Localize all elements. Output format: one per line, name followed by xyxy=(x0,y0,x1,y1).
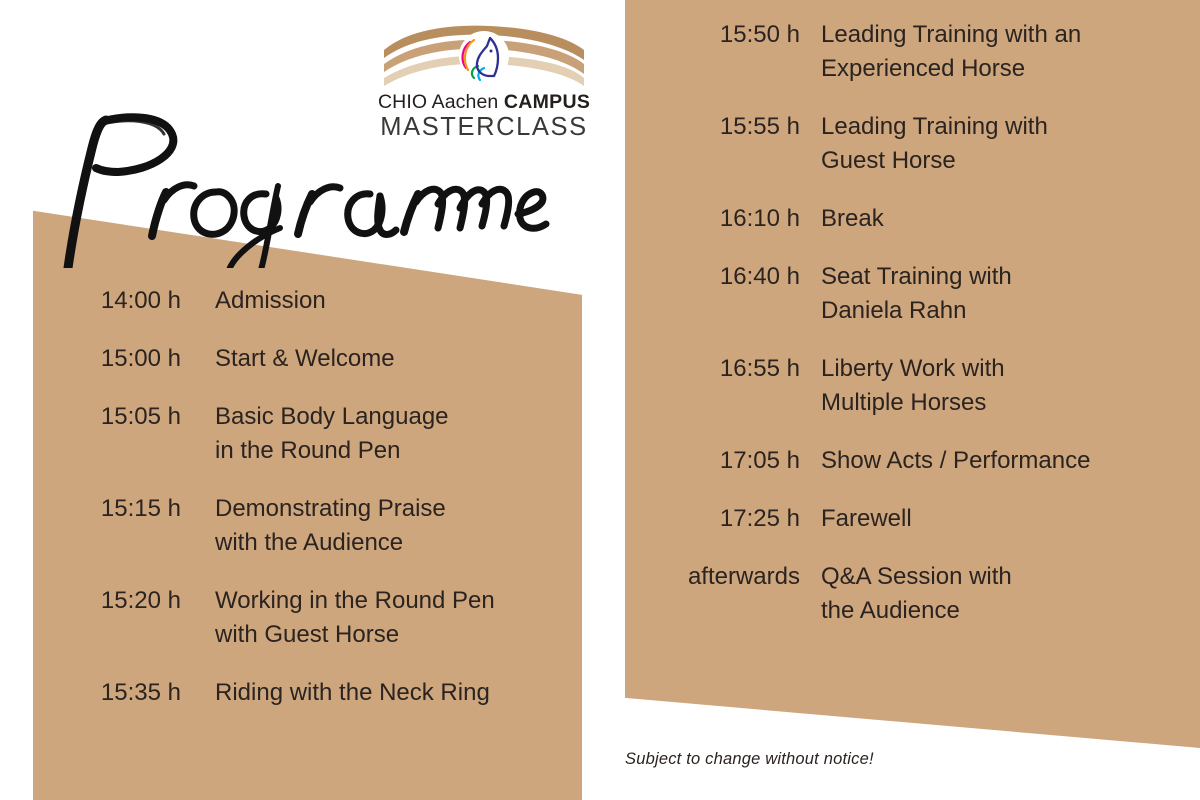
programme-poster: CHIO Aachen CAMPUS MASTERCLASS xyxy=(0,0,1200,800)
schedule-time: 15:55 h xyxy=(625,110,800,144)
schedule-description: Basic Body Language in the Round Pen xyxy=(215,400,449,468)
schedule-row: 15:15 h Demonstrating Praise with the Au… xyxy=(33,492,582,560)
schedule-row: 15:20 h Working in the Round Pen with Gu… xyxy=(33,584,582,652)
schedule-description: Working in the Round Pen with Guest Hors… xyxy=(215,584,495,652)
schedule-description: Leading Training with an Experienced Hor… xyxy=(821,18,1081,86)
schedule-row: 15:55 h Leading Training with Guest Hors… xyxy=(625,110,1200,178)
schedule-time: 15:50 h xyxy=(625,18,800,52)
schedule-description: Q&A Session with the Audience xyxy=(821,560,1012,628)
schedule-time: 17:05 h xyxy=(625,444,800,478)
schedule-time: 15:35 h xyxy=(33,676,181,710)
schedule-row: afterwards Q&A Session with the Audience xyxy=(625,560,1200,628)
schedule-time: afterwards xyxy=(625,560,800,594)
schedule-row: 16:10 h Break xyxy=(625,202,1200,236)
schedule-description: Break xyxy=(821,202,884,236)
schedule-time: 14:00 h xyxy=(33,284,181,318)
logo-mark xyxy=(378,20,590,92)
schedule-description: Leading Training with Guest Horse xyxy=(821,110,1048,178)
schedule-time: 15:00 h xyxy=(33,342,181,376)
schedule-description: Show Acts / Performance xyxy=(821,444,1090,478)
schedule-row: 15:05 h Basic Body Language in the Round… xyxy=(33,400,582,468)
schedule-time: 16:40 h xyxy=(625,260,800,294)
schedule-time: 16:10 h xyxy=(625,202,800,236)
schedule-time: 15:15 h xyxy=(33,492,181,526)
schedule-row: 15:50 h Leading Training with an Experie… xyxy=(625,18,1200,86)
schedule-left-column: 14:00 h Admission 15:00 h Start & Welcom… xyxy=(33,284,582,734)
schedule-time: 15:20 h xyxy=(33,584,181,618)
schedule-time: 15:05 h xyxy=(33,400,181,434)
page-title-programme xyxy=(40,108,560,268)
schedule-row: 17:25 h Farewell xyxy=(625,502,1200,536)
disclaimer-note: Subject to change without notice! xyxy=(625,750,874,769)
schedule-row: 15:35 h Riding with the Neck Ring xyxy=(33,676,582,710)
horse-head-icon xyxy=(459,31,509,81)
schedule-description: Farewell xyxy=(821,502,912,536)
schedule-row: 16:55 h Liberty Work with Multiple Horse… xyxy=(625,352,1200,420)
schedule-description: Seat Training with Daniela Rahn xyxy=(821,260,1012,328)
schedule-row: 15:00 h Start & Welcome xyxy=(33,342,582,376)
schedule-time: 16:55 h xyxy=(625,352,800,386)
schedule-description: Demonstrating Praise with the Audience xyxy=(215,492,446,560)
schedule-time: 17:25 h xyxy=(625,502,800,536)
schedule-right-column: 15:50 h Leading Training with an Experie… xyxy=(625,18,1200,652)
schedule-row: 17:05 h Show Acts / Performance xyxy=(625,444,1200,478)
schedule-description: Riding with the Neck Ring xyxy=(215,676,490,710)
schedule-row: 16:40 h Seat Training with Daniela Rahn xyxy=(625,260,1200,328)
schedule-description: Liberty Work with Multiple Horses xyxy=(821,352,1005,420)
schedule-row: 14:00 h Admission xyxy=(33,284,582,318)
schedule-description: Start & Welcome xyxy=(215,342,395,376)
schedule-description: Admission xyxy=(215,284,326,318)
